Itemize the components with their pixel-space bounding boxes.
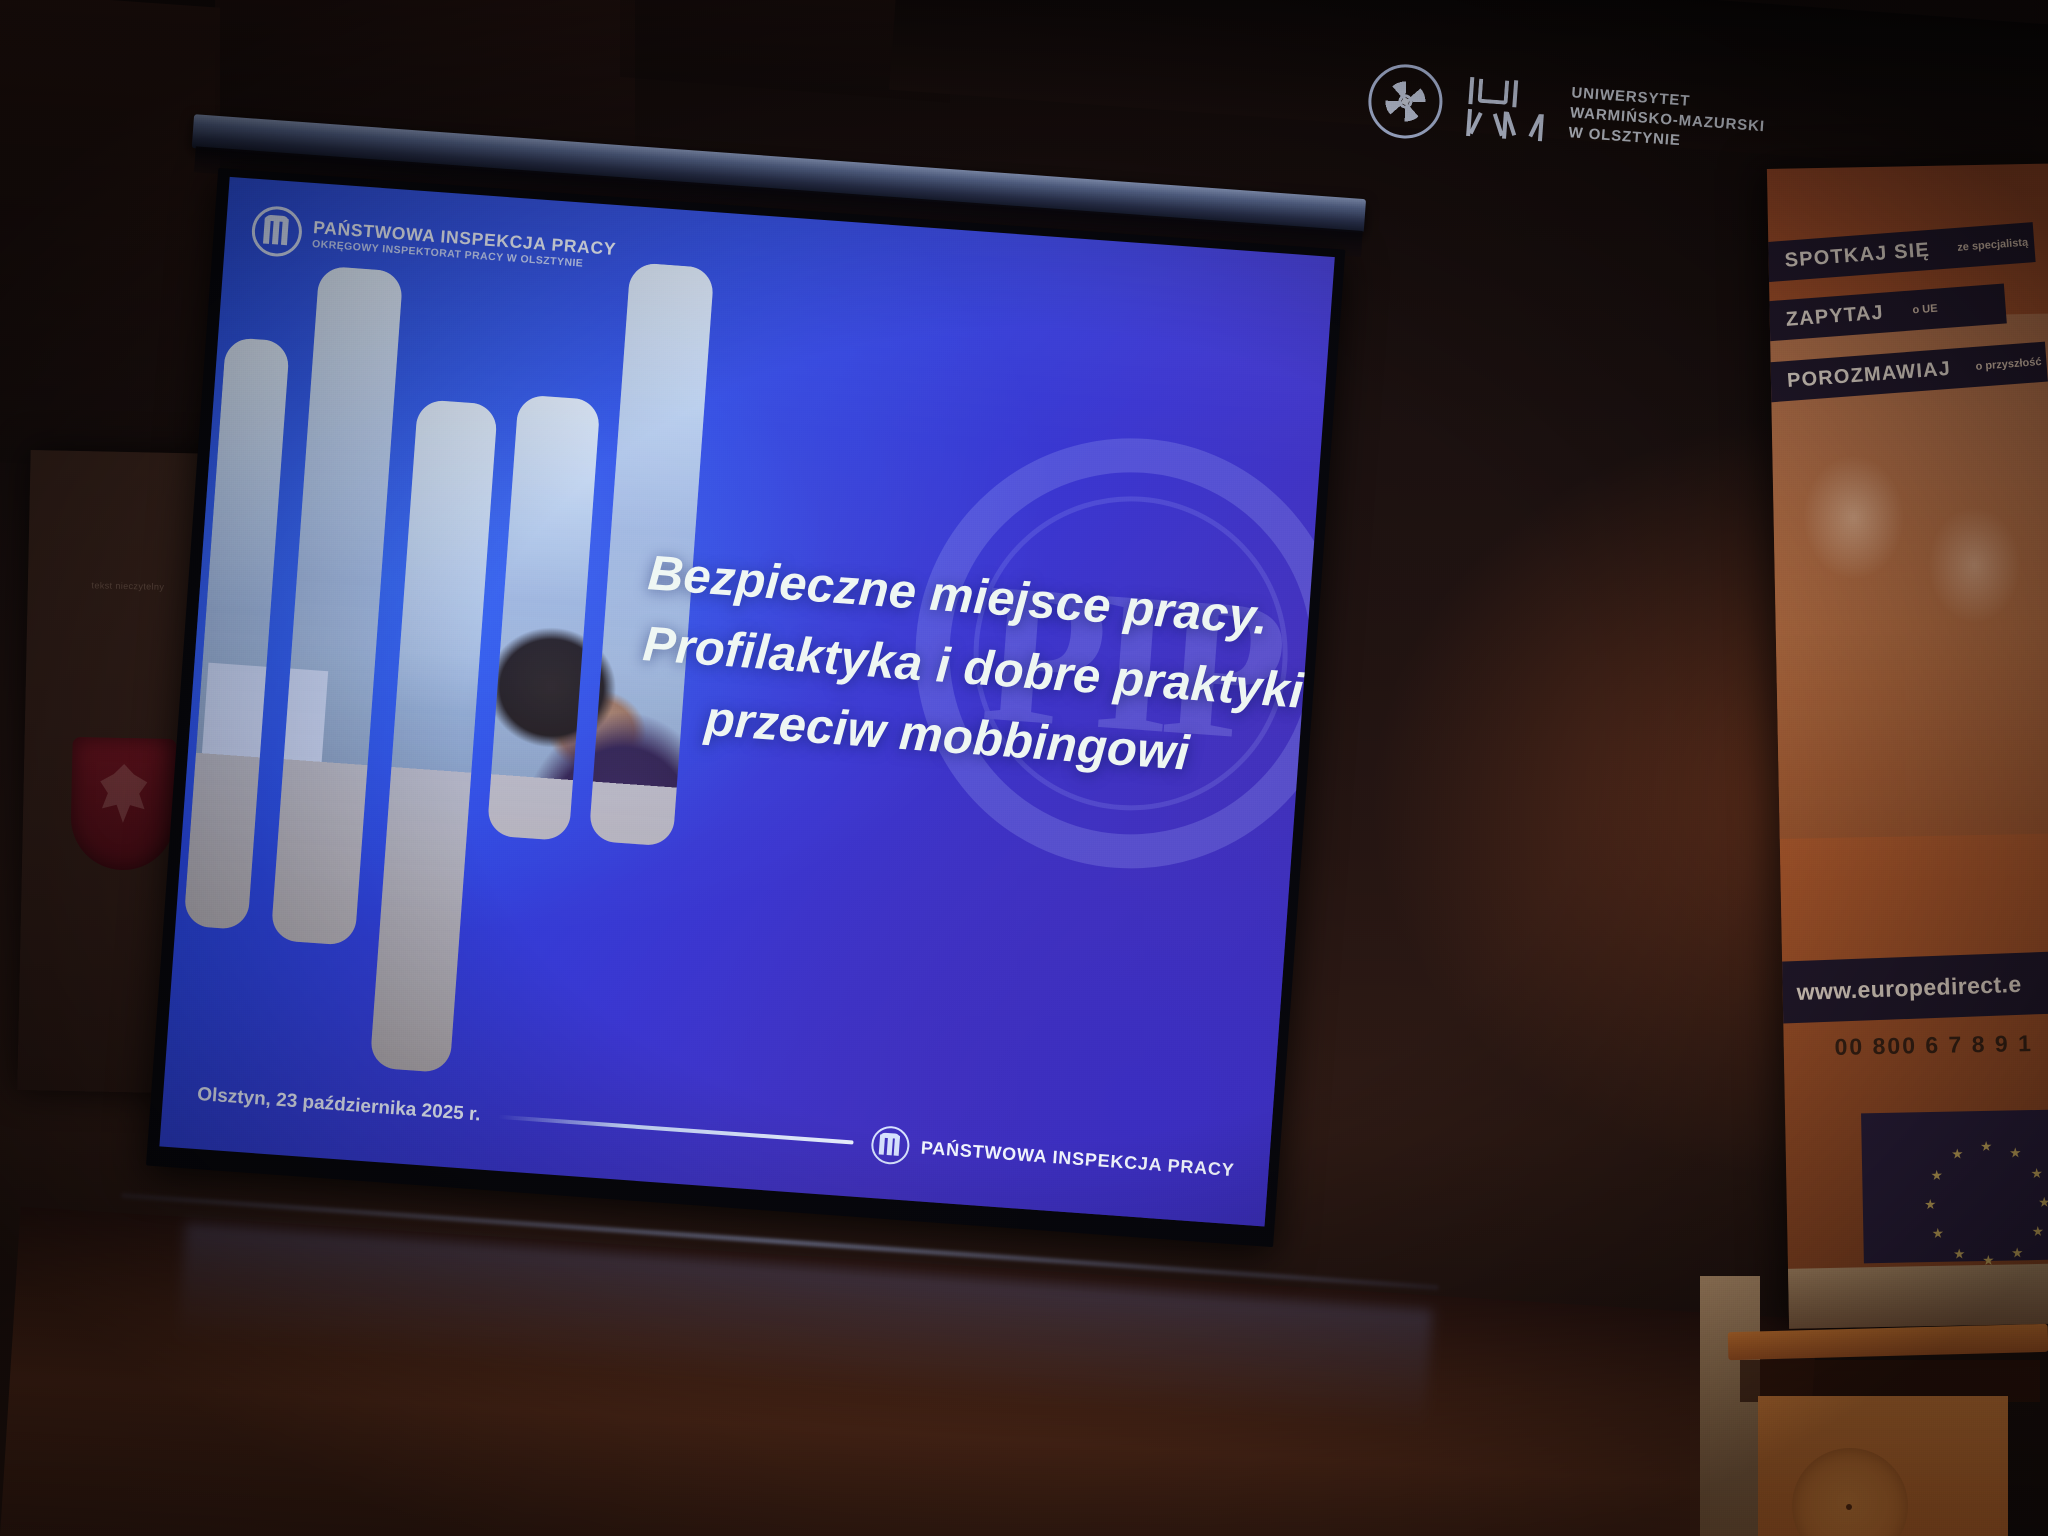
banner-strap-main: POROZMAWIAJ <box>1786 358 1952 393</box>
banner-strap-main: ZAPYTAJ <box>1785 302 1884 332</box>
pip-emblem-icon <box>870 1125 911 1166</box>
wooden-stand <box>1700 1276 2048 1536</box>
right-rollup-banner: SPOTKAJ SIĘ ze specjalistą ZAPYTAJ o UE … <box>1767 163 2048 1329</box>
photo-stripe <box>487 394 601 841</box>
slide-title: Bezpieczne miejsce pracy. Profilaktyka i… <box>635 538 1269 794</box>
banner-url: www.europedirect.e <box>1796 970 2022 1005</box>
stand-top-edge <box>1728 1324 2048 1360</box>
banner-strap: SPOTKAJ SIĘ ze specjalistą <box>1767 222 2036 283</box>
stand-side-panel <box>1700 1276 1760 1536</box>
presentation-slide: PIP PAŃSTWOWA INSPEKCJA PRACY OKRĘGOWY I… <box>159 177 1334 1227</box>
uwm-seal-icon <box>1366 62 1445 141</box>
stand-center-dot <box>1846 1504 1852 1510</box>
projection-screen: PIP PAŃSTWOWA INSPEKCJA PRACY OKRĘGOWY I… <box>103 6 1393 1379</box>
banner-url-bar: www.europedirect.e <box>1772 950 2048 1024</box>
banner-strap-small: ze specjalistą <box>1957 237 2029 254</box>
slide-footer-rule <box>498 1115 853 1145</box>
banner-phone: 00 800 6 7 8 9 1 <box>1784 1029 2048 1062</box>
uwm-monogram-icon <box>1466 77 1546 141</box>
partner-logo-text: UNIWERSYTET WARMIŃSKO-MAZURSKI W OLSZTYN… <box>1568 83 1767 158</box>
photo-stripe <box>271 266 404 946</box>
photo-stripe <box>370 399 498 1073</box>
lecture-hall-photo: tekst nieczytelny PIP PAŃSTWOWA INSP <box>0 0 2048 1536</box>
slide-footer-brand-label: PAŃSTWOWA INSPEKCJA PRACY <box>920 1137 1235 1181</box>
slide-footer-brand: PAŃSTWOWA INSPEKCJA PRACY <box>870 1125 1236 1189</box>
eu-flag-icon <box>1861 1108 2048 1263</box>
banner-strap-small: o przyszłość <box>1975 356 2042 373</box>
banner-strap-small: o UE <box>1912 303 1938 317</box>
banner-strap-main: SPOTKAJ SIĘ <box>1784 239 1931 273</box>
